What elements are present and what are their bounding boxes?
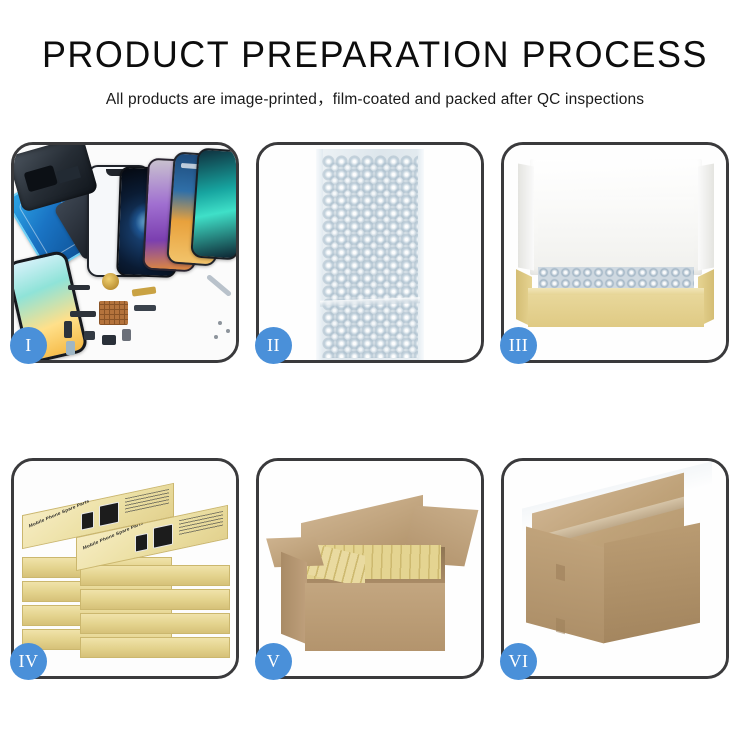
step-badge-5: V (255, 643, 292, 680)
process-step-2: II (256, 142, 484, 363)
box-front-panel (528, 295, 704, 327)
screw-1-icon (218, 321, 222, 325)
box-spec-lines (125, 489, 169, 514)
box-spec-lines (179, 511, 223, 536)
small-part-3-icon (122, 329, 131, 341)
stacked-box-row (80, 613, 230, 634)
flex-cable-d-icon (64, 321, 72, 338)
carton-left-face (526, 527, 604, 644)
box-art-phone-a (135, 533, 148, 553)
step-2-image (259, 145, 481, 360)
step-badge-1: I (10, 327, 47, 364)
bubble-pattern-overlay (328, 161, 418, 358)
screw-2-icon (226, 329, 230, 333)
carton-side-left (281, 552, 307, 645)
coil-part-icon (102, 273, 119, 290)
flex-cable-b-icon (134, 305, 156, 311)
header: PRODUCT PREPARATION PROCESS All products… (0, 0, 750, 109)
infographic-page: PRODUCT PREPARATION PROCESS All products… (0, 0, 750, 750)
carton-front-panel (305, 583, 445, 651)
sim-tray-icon (66, 341, 75, 355)
process-step-4: Mobile Phone Spare Parts Mobile Phone Sp… (11, 458, 239, 679)
step-badge-6: VI (500, 643, 537, 680)
carton-seam-lower (556, 618, 565, 634)
page-subtitle: All products are image-printed，film-coat… (0, 87, 750, 109)
box-foam-liner (538, 197, 694, 269)
box-art-phone-a (81, 511, 94, 531)
step-badge-3: III (500, 327, 537, 364)
stacked-box-row (80, 589, 230, 610)
flex-cable-c-icon (70, 311, 96, 317)
process-grid: I II (11, 142, 739, 679)
small-part-2-icon (102, 335, 116, 345)
step-3-image (504, 145, 726, 360)
step-badge-2: II (255, 327, 292, 364)
small-part-1-icon (84, 331, 95, 340)
box-art-phone-b (153, 524, 173, 549)
step-1-image (14, 145, 236, 360)
process-step-5: V (256, 458, 484, 679)
tweezers-icon (206, 274, 232, 297)
screw-3-icon (214, 335, 218, 339)
process-step-6: VI (501, 458, 729, 679)
grid-part-icon (99, 301, 128, 325)
carton-seam-upper (556, 564, 565, 581)
phone-display-teal-graphic (190, 147, 236, 260)
carton-right-face (604, 523, 700, 643)
pouch-edge-right (417, 149, 424, 360)
stacked-box-row (80, 637, 230, 658)
step-4-image: Mobile Phone Spare Parts Mobile Phone Sp… (14, 461, 236, 676)
flex-cable-a-icon (132, 286, 157, 296)
box-art-phone-b (99, 502, 119, 527)
bar-part-icon (68, 285, 90, 290)
process-step-3: III (501, 142, 729, 363)
process-step-1: I (11, 142, 239, 363)
stacked-box-row (80, 565, 230, 586)
step-badge-4: IV (10, 643, 47, 680)
page-title: PRODUCT PREPARATION PROCESS (11, 34, 739, 76)
bubble-wrap-pouch-graphic (316, 149, 424, 360)
step-5-image (259, 461, 481, 676)
step-6-image (504, 461, 726, 676)
box-stack-graphic: Mobile Phone Spare Parts Mobile Phone Sp… (22, 477, 234, 667)
